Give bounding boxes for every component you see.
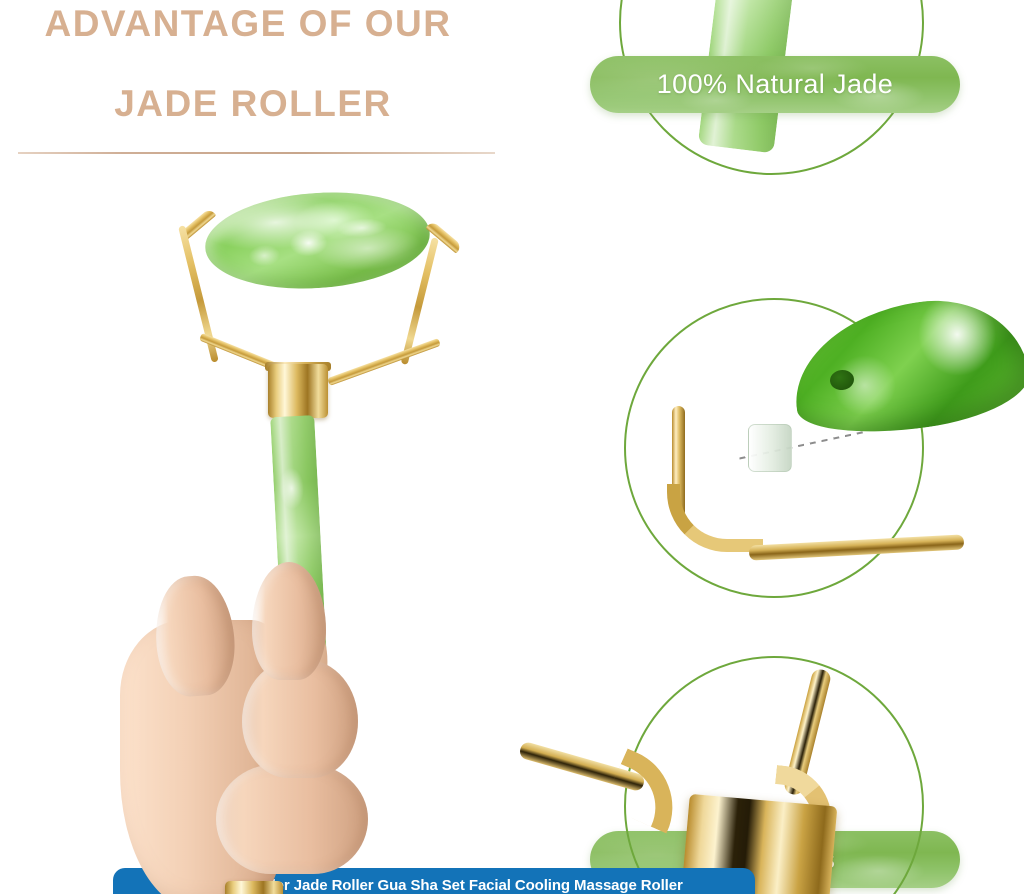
finger-pinky <box>216 764 368 874</box>
headline-block: ADVANTAGE OF OUR JADE ROLLER <box>0 0 512 126</box>
finger-middle <box>252 562 326 680</box>
headline-divider <box>18 152 495 154</box>
hand-holding-roller <box>120 568 400 894</box>
feature-panel-natural-jade: 100% Natural Jade <box>512 0 1024 230</box>
gold-collar-bottom-icon <box>225 881 283 894</box>
feature-badge-natural-jade: 100% Natural Jade <box>590 56 960 113</box>
headline-line-1: ADVANTAGE OF OUR <box>0 0 512 46</box>
feature-panel-gold-joint <box>512 650 1024 894</box>
jade-roller-head-icon <box>202 185 433 295</box>
gold-yoke-arm-right-icon <box>327 338 441 386</box>
feature-badge-label: 100% Natural Jade <box>657 69 893 100</box>
silicone-washer-icon <box>748 424 792 472</box>
right-feature-column: 100% Natural Jade Noiseless <box>512 0 1024 894</box>
gold-collar-top-icon <box>268 364 328 418</box>
feature-panel-noiseless: Noiseless <box>512 288 1024 608</box>
headline-line-2: JADE ROLLER <box>0 46 512 126</box>
hero-product-image <box>0 168 512 894</box>
product-infographic-page: ADVANTAGE OF OUR JADE ROLLER <box>0 0 1024 894</box>
left-hero-column: ADVANTAGE OF OUR JADE ROLLER <box>0 0 512 894</box>
